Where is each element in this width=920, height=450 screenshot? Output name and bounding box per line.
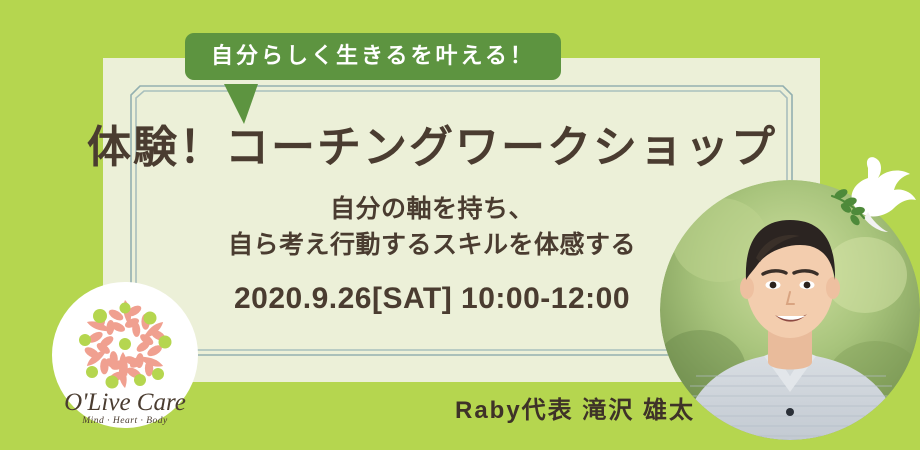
tagline-speech-bubble: 自分らしく生きるを叶える！ <box>185 33 561 80</box>
brand-logo: O'Live Care Mind · Heart · Body <box>52 282 198 428</box>
speech-bubble-tail <box>224 84 258 124</box>
logo-tagline-text: Mind · Heart · Body <box>81 416 168 426</box>
presenter-name: Raby代表 滝沢 雄太 <box>430 390 720 425</box>
page-title: 体験！コーチングワークショップ <box>61 125 803 171</box>
logo-brand-text: O'Live Care <box>64 389 186 416</box>
subtitle-line-1: 自分の軸を持ち、 <box>61 191 803 227</box>
workshop-banner: 自分らしく生きるを叶える！ 体験！コーチングワークショップ 自分の軸を持ち、 自… <box>0 0 920 450</box>
olive-wreath <box>78 300 172 389</box>
tagline-text: 自分らしく生きるを叶える！ <box>211 43 535 68</box>
dove-icon <box>824 152 920 248</box>
